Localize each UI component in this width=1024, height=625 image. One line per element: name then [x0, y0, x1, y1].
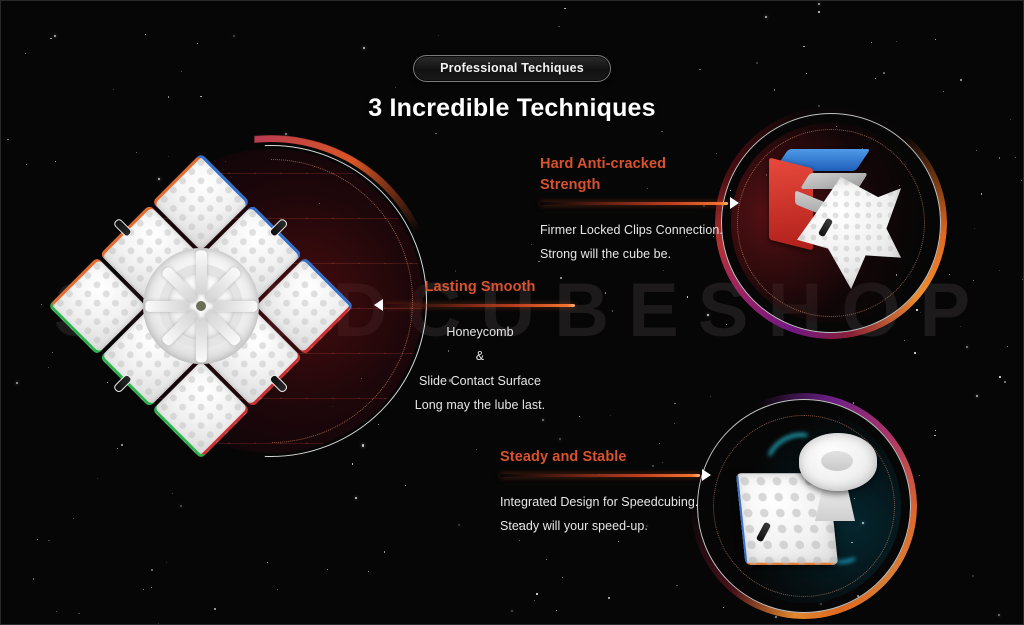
star-dot	[1023, 373, 1024, 374]
star-dot	[267, 562, 268, 563]
star-dot	[25, 53, 26, 54]
star-dot	[558, 26, 559, 27]
feature-title: Steady and Stable	[500, 447, 700, 468]
star-dot	[1007, 346, 1008, 347]
feature-hard-anti-cracked: Hard Anti-cracked Strength Firmer Locked…	[540, 154, 728, 267]
star-dot	[972, 575, 973, 576]
star-dot	[455, 270, 456, 271]
star-dot	[546, 559, 547, 560]
star-dot	[48, 540, 49, 541]
feature-lasting-smooth: Lasting Smooth Honeycomb & Slide Contact…	[385, 277, 575, 418]
star-dot	[661, 131, 662, 132]
star-dot	[1021, 180, 1022, 181]
panel-edge-blue	[736, 473, 748, 564]
badge-steady-stable-image	[691, 393, 917, 619]
feature-body-line: Integrated Design for Speedcubing.	[500, 490, 700, 514]
star-dot	[197, 43, 198, 44]
star-dot	[16, 382, 18, 384]
star-dot	[355, 497, 357, 499]
star-dot	[818, 3, 820, 5]
feature-body-line: Slide Contact Surface	[385, 369, 575, 393]
star-dot	[707, 314, 709, 316]
panel-edge-orange	[745, 563, 838, 565]
center-cap	[799, 433, 877, 491]
arrow-left-icon	[374, 299, 383, 311]
arrow-right-icon	[702, 469, 711, 481]
star-dot	[327, 569, 328, 570]
core-arm	[145, 301, 189, 312]
star-dot	[143, 589, 144, 590]
star-dot	[935, 430, 936, 431]
star-dot	[612, 310, 613, 311]
star-dot	[564, 8, 565, 9]
feature-underline	[500, 474, 700, 477]
star-dot	[26, 164, 27, 165]
main-cube-illustration	[41, 131, 391, 471]
star-dot	[998, 614, 1000, 616]
star-dot	[151, 569, 152, 570]
center-piece-illustration	[731, 429, 881, 579]
star-dot	[180, 505, 182, 507]
star-dot	[54, 35, 56, 37]
star-dot	[896, 41, 897, 42]
feature-body-line: Steady will your speed-up.	[500, 514, 700, 538]
feature-title: Hard Anti-cracked	[540, 154, 728, 175]
arrow-right-icon	[730, 197, 739, 209]
header: Professional Techiques 3 Incredible Tech…	[1, 55, 1023, 123]
feature-title: Lasting Smooth	[385, 277, 575, 298]
star-dot	[145, 34, 146, 35]
core-arm	[213, 301, 257, 312]
star-dot	[659, 443, 660, 444]
star-dot	[579, 416, 580, 417]
star-dot	[476, 449, 477, 450]
star-dot	[904, 340, 905, 341]
star-dot	[536, 593, 537, 594]
star-dot	[7, 139, 8, 140]
star-dot	[934, 435, 935, 436]
star-dot	[56, 611, 57, 612]
star-dot	[687, 296, 688, 297]
star-dot	[435, 133, 436, 134]
badge-hard-anti-cracked-image	[715, 107, 947, 339]
star-dot	[368, 571, 369, 572]
star-dot	[803, 46, 804, 47]
feature-body-line: Honeycomb	[385, 320, 575, 344]
star-dot	[97, 478, 98, 479]
star-dot	[233, 35, 235, 37]
feature-body-line: &	[385, 344, 575, 368]
star-dot	[33, 578, 34, 579]
star-dot	[1004, 381, 1005, 382]
star-dot	[949, 274, 950, 275]
star-dot	[458, 524, 460, 526]
star-dot	[674, 423, 675, 424]
feature-body-line: Firmer Locked Clips Connection.	[540, 218, 728, 242]
feature-body-line: Strong will the cube be.	[540, 242, 728, 266]
star-dot	[559, 438, 561, 440]
core-arm	[160, 308, 199, 347]
star-dot	[605, 292, 606, 293]
star-dot	[999, 376, 1000, 377]
core-arm	[203, 265, 242, 304]
star-dot	[981, 193, 982, 194]
star-dot	[618, 541, 619, 542]
star-dot	[511, 610, 513, 612]
star-dot	[151, 587, 152, 588]
star-dot	[871, 42, 872, 43]
star-dot	[519, 540, 520, 541]
magnet-slot	[268, 373, 289, 394]
star-dot	[405, 485, 406, 486]
core-arm	[196, 250, 207, 294]
core-screw	[194, 299, 208, 313]
star-dot	[674, 403, 675, 404]
feature-body-line: Long may the lube last.	[385, 393, 575, 417]
star-dot	[384, 551, 385, 552]
star-dot	[976, 150, 977, 151]
star-dot	[542, 419, 544, 421]
star-dot	[676, 585, 677, 586]
header-badge: Professional Techiques	[413, 55, 611, 82]
feature-title-line2: Strength	[540, 175, 728, 196]
star-dot	[363, 47, 365, 49]
star-dot	[277, 589, 278, 590]
star-dot	[172, 493, 173, 494]
star-dot	[50, 38, 51, 39]
star-dot	[214, 608, 215, 609]
corner-piece-illustration	[761, 143, 911, 305]
core-arm	[160, 265, 199, 304]
feature-underline	[385, 304, 575, 307]
star-dot	[1015, 157, 1016, 158]
star-dot	[976, 395, 978, 397]
core-arm	[196, 318, 207, 362]
core-arm	[203, 308, 242, 347]
star-dot	[765, 16, 767, 18]
star-dot	[818, 11, 819, 12]
star-dot	[562, 577, 563, 578]
star-dot	[37, 539, 38, 540]
star-dot	[438, 35, 439, 36]
star-dot	[556, 610, 557, 611]
star-dot	[999, 157, 1000, 158]
star-dot	[973, 280, 974, 281]
star-dot	[935, 39, 936, 40]
feature-steady-and-stable: Steady and Stable Integrated Design for …	[500, 447, 700, 539]
feature-body: Firmer Locked Clips Connection. Strong w…	[540, 218, 728, 267]
star-dot	[608, 597, 609, 598]
star-dot	[919, 475, 920, 476]
star-dot	[534, 600, 535, 601]
promo-banner: SPEEDCUBESHOP Professional Techiques 3 I…	[0, 0, 1024, 625]
star-dot	[966, 346, 968, 348]
star-dot	[663, 270, 664, 271]
star-dot	[999, 270, 1000, 271]
feature-body: Integrated Design for Speedcubing. Stead…	[500, 490, 700, 539]
star-dot	[166, 562, 167, 563]
feature-underline	[540, 202, 728, 205]
star-dot	[974, 228, 975, 229]
star-dot	[78, 613, 79, 614]
star-dot	[914, 352, 915, 353]
star-dot	[960, 326, 961, 327]
star-dot	[1022, 279, 1023, 280]
feature-body: Honeycomb & Slide Contact Surface Long m…	[385, 320, 575, 418]
star-dot	[73, 518, 74, 519]
star-dot	[531, 244, 532, 245]
star-dot	[610, 415, 611, 416]
page-title: 3 Incredible Techniques	[1, 94, 1023, 123]
